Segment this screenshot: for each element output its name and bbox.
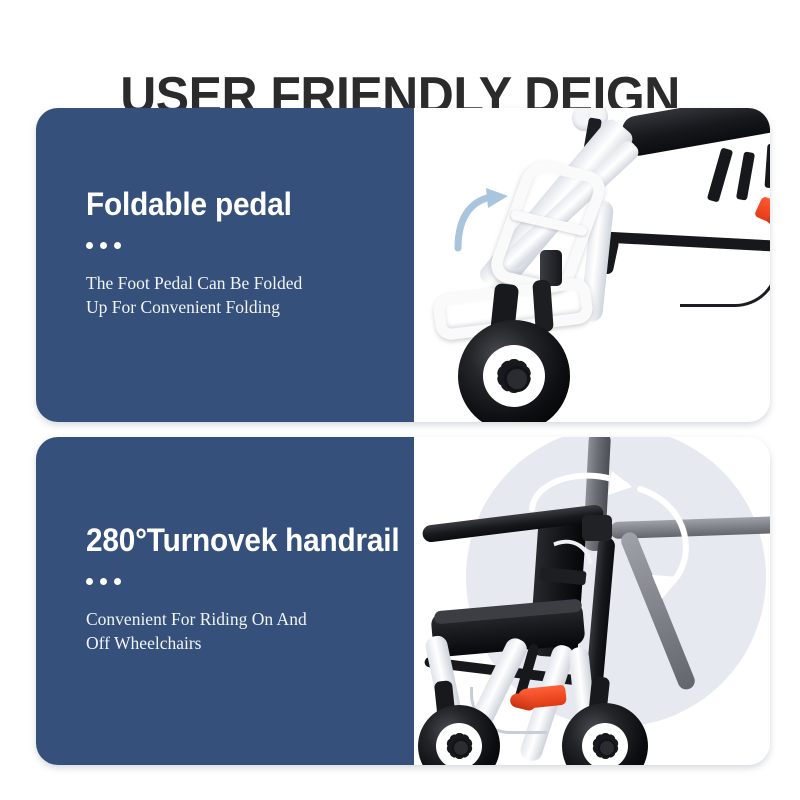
dot-icon [114,242,121,249]
curved-fold-arrow-icon [452,186,514,252]
dot-icon [86,578,93,585]
dot-icon [100,242,107,249]
feature-heading: 280°Turnovek handrail [86,522,391,558]
feature-text-panel: Foldable pedal The Foot Pedal Can Be Fol… [36,108,414,422]
dots-separator-icon [86,242,414,249]
product-photo-illustration [414,108,770,422]
wheel-hub-shape [504,366,530,392]
frame-bar-shape [764,144,770,189]
brake-cable-shape [680,248,770,307]
feature-heading: Foldable pedal [86,186,391,222]
feature-card-foldable-pedal: Foldable pedal The Foot Pedal Can Be Fol… [36,108,770,422]
dot-icon [100,578,107,585]
wheel-hub-shape [598,739,616,757]
dots-separator-icon [86,578,414,585]
caster-wheel-shape [458,320,570,422]
feature-text-panel: 280°Turnovek handrail Convenient For Rid… [36,437,414,765]
rotation-arrow-icon [610,481,720,607]
feature-description: The Foot Pedal Can Be Folded Up For Conv… [86,271,386,319]
feature-photo-turnover-handrail [414,437,770,765]
infographic-page: USER FRIENDLY DEIGN Foldable pedal The F… [0,0,800,800]
feature-photo-foldable-pedal [414,108,770,422]
product-photo-illustration [414,437,770,765]
frame-bar-shape [736,151,755,200]
feature-description: Convenient For Riding On And Off Wheelch… [86,607,386,655]
dot-icon [86,242,93,249]
seat-pad-shape [620,108,770,158]
dot-icon [114,578,121,585]
frame-bar-shape [707,147,733,202]
feature-card-turnover-handrail: 280°Turnovek handrail Convenient For Rid… [36,437,770,765]
wheel-hub-shape [452,739,470,757]
